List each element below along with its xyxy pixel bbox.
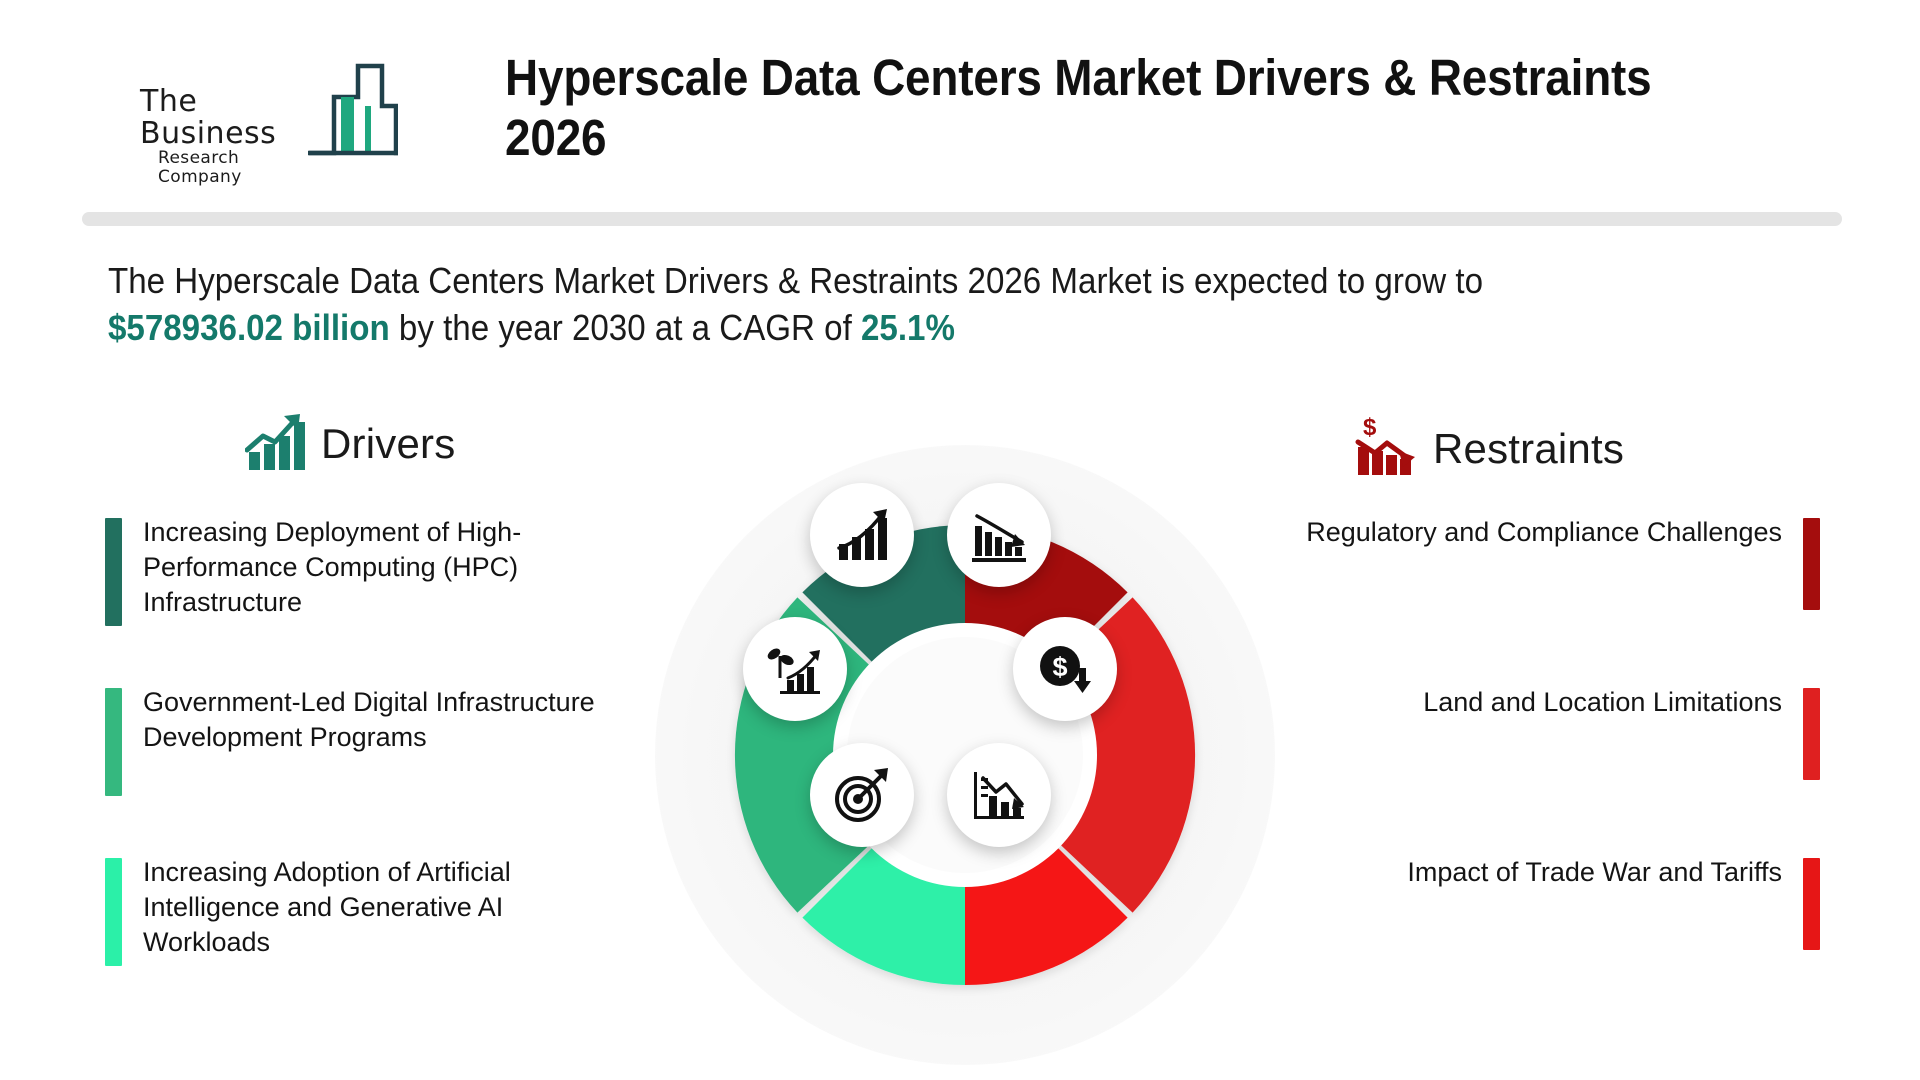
restraint-accent-bar-1 [1803, 518, 1820, 610]
driver-label-3: Increasing Adoption of Artificial Intell… [143, 855, 625, 960]
market-summary: The Hyperscale Data Centers Market Drive… [108, 258, 1617, 352]
driver-label-2: Government-Led Digital Infrastructure De… [143, 685, 625, 755]
restraint-label-3: Impact of Trade War and Tariffs [1300, 855, 1782, 890]
logo-line-1: The Business [140, 86, 320, 149]
declining-bar-chart-arrow-down-icon[interactable] [947, 483, 1051, 587]
restraint-item-3: Impact of Trade War and Tariffs [1300, 855, 1820, 963]
restraint-accent-bar-2 [1803, 688, 1820, 780]
driver-accent-bar-3 [105, 858, 122, 966]
svg-text:$: $ [1052, 652, 1067, 682]
driver-label-1: Increasing Deployment of High-Performanc… [143, 515, 625, 620]
declining-chart-dollar-icon: $ [1355, 415, 1419, 482]
growth-chart-up-icon [245, 410, 307, 477]
drivers-list: Increasing Deployment of High-Performanc… [105, 515, 625, 1025]
restraint-item-2: Land and Location Limitations [1300, 685, 1820, 793]
restraint-accent-bar-3 [1803, 858, 1820, 950]
restraints-list: Regulatory and Compliance Challenges Lan… [1300, 515, 1820, 1025]
drivers-heading: Drivers [245, 410, 455, 477]
cagr-value: 25.1% [861, 307, 955, 348]
target-bullseye-arrow-icon[interactable] [810, 743, 914, 847]
driver-item-2: Government-Led Digital Infrastructure De… [105, 685, 625, 793]
drivers-restraints-wheel: $ [655, 445, 1275, 1065]
svg-text:$: $ [1363, 415, 1377, 441]
driver-item-3: Increasing Adoption of Artificial Intell… [105, 855, 625, 963]
summary-text-part-1: The Hyperscale Data Centers Market Drive… [108, 260, 1483, 301]
page-title: Hyperscale Data Centers Market Drivers &… [505, 48, 1729, 168]
driver-accent-bar-2 [105, 688, 122, 796]
restraints-heading-label: Restraints [1433, 425, 1624, 473]
restraints-heading: $ Restraints [1355, 415, 1624, 482]
infographic-page: The Business Research Company Hyperscale… [0, 0, 1920, 1080]
logo-line-2: Research Company [140, 149, 320, 186]
drivers-heading-label: Drivers [321, 420, 455, 468]
driver-accent-bar-1 [105, 518, 122, 626]
logo-wordmark: The Business Research Company [140, 86, 320, 186]
growth-bar-chart-arrow-up-icon[interactable] [810, 483, 914, 587]
driver-item-1: Increasing Deployment of High-Performanc… [105, 515, 625, 623]
restraint-item-1: Regulatory and Compliance Challenges [1300, 515, 1820, 623]
restraint-label-1: Regulatory and Compliance Challenges [1300, 515, 1782, 550]
dollar-arrow-down-icon[interactable]: $ [1013, 617, 1117, 721]
header: The Business Research Company Hyperscale… [0, 0, 1920, 200]
bar-chart-logo-icon [308, 60, 398, 162]
summary-text-part-2: by the year 2030 at a CAGR of [390, 307, 861, 348]
company-logo: The Business Research Company [140, 60, 390, 170]
restraint-label-2: Land and Location Limitations [1300, 685, 1782, 720]
market-value: $578936.02 billion [108, 307, 390, 348]
falling-line-bar-chart-icon[interactable] [947, 743, 1051, 847]
header-divider [82, 212, 1842, 226]
plant-growth-bar-chart-icon[interactable] [743, 617, 847, 721]
